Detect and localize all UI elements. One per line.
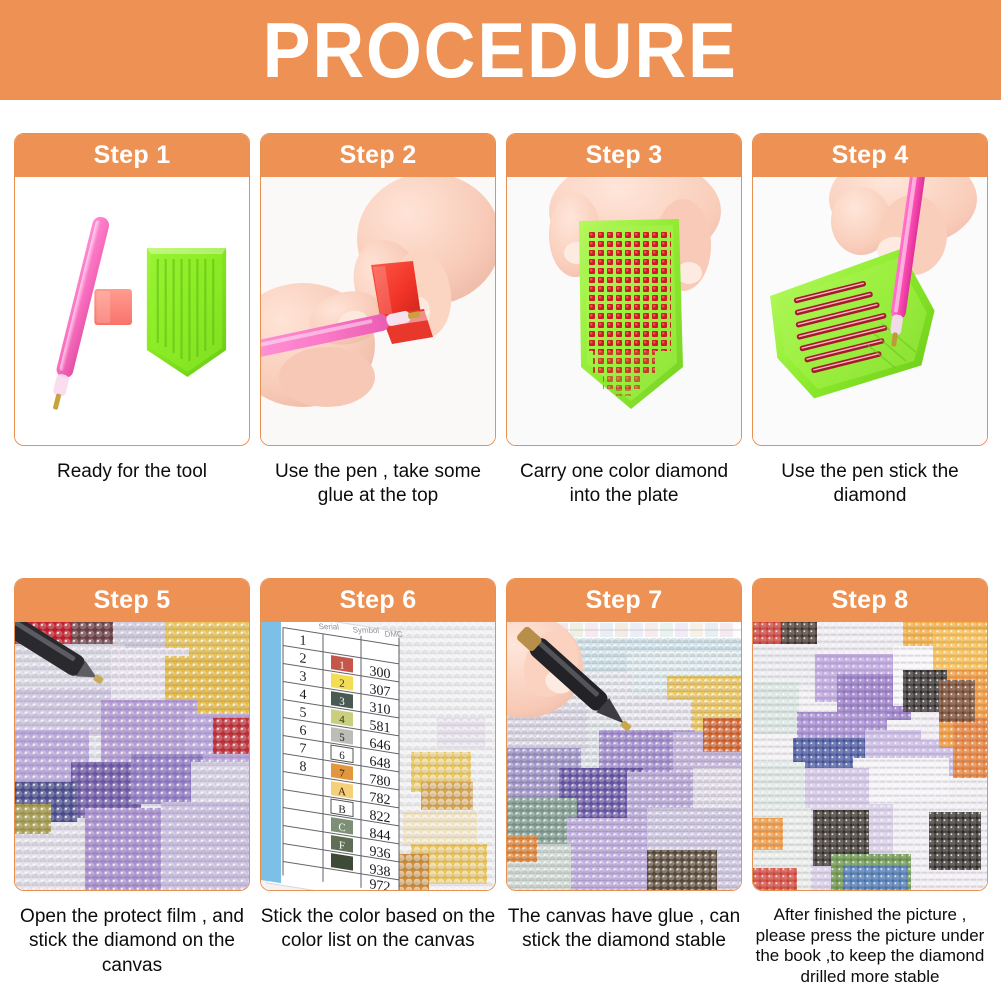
step-5-caption: Open the protect film , and stick the di… [14, 905, 250, 978]
svg-text:822: 822 [370, 807, 391, 826]
svg-text:972: 972 [370, 876, 391, 890]
step-2-caption: Use the pen , take some glue at the top [260, 460, 496, 509]
svg-text:6: 6 [339, 749, 345, 762]
svg-text:2: 2 [339, 677, 344, 690]
step-8-caption: After finished the picture , please pres… [752, 905, 988, 988]
svg-text:B: B [338, 803, 345, 816]
svg-text:581: 581 [370, 717, 391, 736]
steps-row-bottom: Step 5 [14, 578, 988, 988]
procedure-page: PROCEDURE Step 1 [0, 0, 1001, 1001]
step-card-1[interactable]: Step 1 [14, 133, 250, 509]
step-7-header: Step 7 [507, 579, 741, 622]
step-2-illustration [261, 177, 495, 445]
step-card-4[interactable]: Step 4 [752, 133, 988, 509]
step-2-header: Step 2 [261, 134, 495, 177]
step-3-header: Step 3 [507, 134, 741, 177]
step-4-header: Step 4 [753, 134, 987, 177]
step-1-caption: Ready for the tool [14, 460, 250, 484]
svg-text:310: 310 [370, 699, 391, 718]
step-4-image [753, 177, 987, 445]
step-6-image: Serial Symbol DMC [261, 622, 495, 890]
step-4-illustration [753, 177, 987, 445]
svg-text:7: 7 [299, 740, 306, 757]
svg-text:780: 780 [370, 771, 391, 790]
step-7-illustration [507, 622, 741, 890]
svg-text:648: 648 [370, 753, 391, 772]
svg-text:C: C [338, 821, 345, 834]
step-6-header: Step 6 [261, 579, 495, 622]
step-card-5[interactable]: Step 5 [14, 578, 250, 988]
step-card-3[interactable]: Step 3 [506, 133, 742, 509]
svg-text:936: 936 [370, 843, 391, 862]
svg-text:300: 300 [370, 663, 391, 682]
step-5-header: Step 5 [15, 579, 249, 622]
svg-text:646: 646 [370, 735, 391, 754]
step-card-7[interactable]: Step 7 [506, 578, 742, 988]
steps-row-top: Step 1 [14, 133, 988, 509]
step-5-image [15, 622, 249, 890]
step-5-illustration [15, 622, 249, 890]
step-7-image [507, 622, 741, 890]
chart-header-dmc: DMC [384, 630, 403, 639]
svg-text:3: 3 [299, 668, 306, 685]
step-6-caption: Stick the color based on the color list … [260, 905, 496, 954]
step-1-image [15, 177, 249, 445]
svg-text:307: 307 [370, 681, 391, 700]
svg-text:4: 4 [299, 686, 306, 703]
svg-text:F: F [339, 839, 345, 852]
svg-text:1: 1 [299, 632, 306, 649]
step-card-8[interactable]: Step 8 [752, 578, 988, 988]
step-card-6[interactable]: Step 6 [260, 578, 496, 988]
page-title: PROCEDURE [263, 11, 738, 89]
chart-header-symbol: Symbol [352, 626, 380, 636]
svg-text:8: 8 [299, 758, 306, 775]
svg-text:1: 1 [339, 659, 344, 672]
step-3-image [507, 177, 741, 445]
svg-text:6: 6 [299, 722, 306, 739]
step-8-illustration [753, 622, 987, 890]
svg-text:4: 4 [339, 713, 345, 726]
step-3-illustration [507, 177, 741, 445]
step-1-illustration [23, 185, 241, 437]
page-header-banner: PROCEDURE [0, 0, 1001, 100]
svg-text:2: 2 [299, 650, 306, 667]
svg-text:5: 5 [299, 704, 306, 721]
svg-text:782: 782 [370, 789, 391, 808]
svg-text:844: 844 [370, 825, 391, 844]
step-4-caption: Use the pen stick the diamond [752, 460, 988, 509]
step-6-illustration: Serial Symbol DMC [261, 622, 495, 890]
chart-header-serial: Serial [318, 622, 340, 631]
step-8-image [753, 622, 987, 890]
step-7-caption: The canvas have glue , can stick the dia… [506, 905, 742, 954]
step-8-header: Step 8 [753, 579, 987, 622]
step-card-2[interactable]: Step 2 [260, 133, 496, 509]
step-3-caption: Carry one color diamond into the plate [506, 460, 742, 509]
step-1-header: Step 1 [15, 134, 249, 177]
step-2-image [261, 177, 495, 445]
svg-text:7: 7 [339, 767, 345, 780]
svg-text:A: A [338, 785, 346, 798]
svg-text:5: 5 [339, 731, 345, 744]
svg-text:3: 3 [339, 695, 345, 708]
